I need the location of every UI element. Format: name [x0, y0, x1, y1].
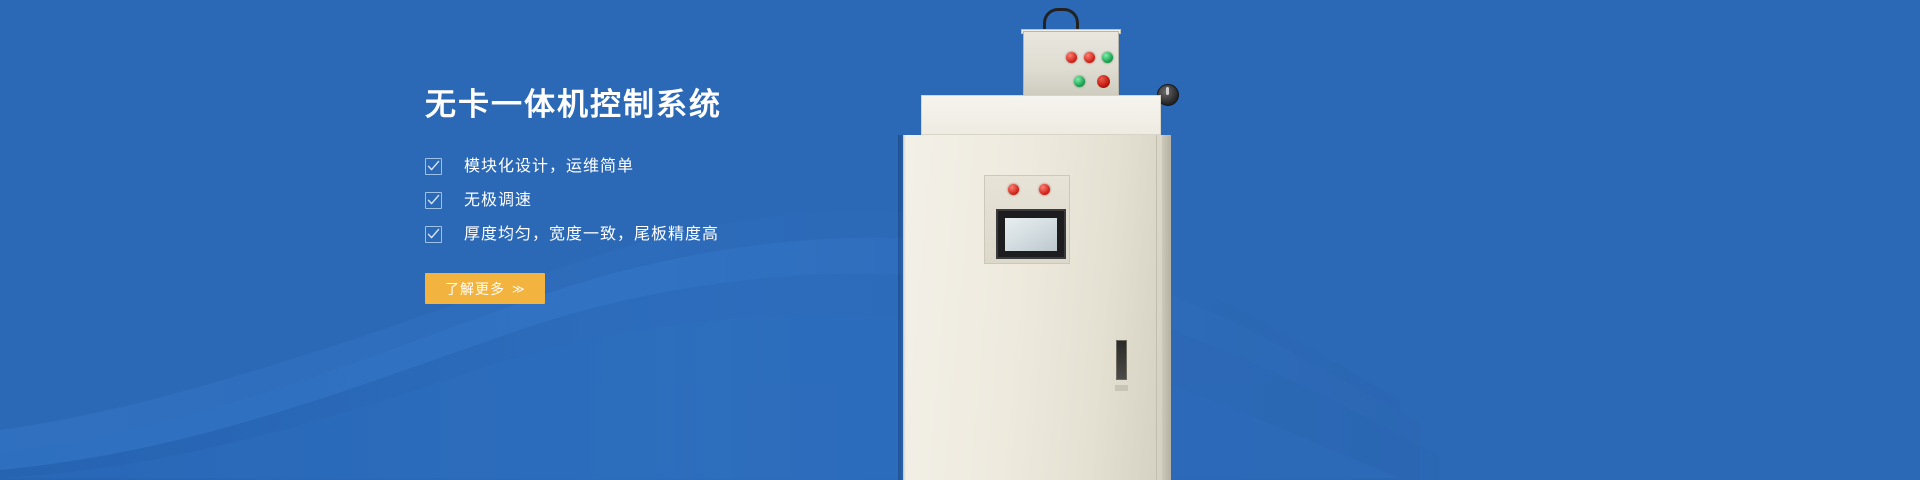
feature-list: 模块化设计，运维简单 无极调速 厚度均匀，宽度一致，尾板精度高 — [425, 150, 945, 251]
indicator-lamp-red-left — [1008, 184, 1019, 195]
indicator-lamp-red-right — [1039, 184, 1050, 195]
cabinet-top-plate — [921, 95, 1161, 135]
check-glyph — [427, 194, 440, 207]
learn-more-button[interactable]: 了解更多 ≫ — [425, 273, 545, 304]
hmi-screen-glass — [1005, 218, 1057, 251]
cabinet-vent-slot — [1116, 340, 1127, 380]
push-button-red-1 — [1066, 52, 1077, 63]
cabinet-door-seam — [1156, 135, 1157, 480]
check-glyph — [427, 160, 440, 173]
hero-copy-block: 无卡一体机控制系统 模块化设计，运维简单 无极调速 — [425, 86, 945, 304]
hero-banner: 无卡一体机控制系统 模块化设计，运维简单 无极调速 — [0, 0, 1920, 480]
push-button-green-1 — [1102, 52, 1113, 63]
learn-more-label: 了解更多 — [445, 279, 505, 299]
check-glyph — [427, 228, 440, 241]
feature-label: 模块化设计，运维简单 — [464, 158, 634, 175]
list-item: 无极调速 — [425, 184, 945, 217]
top-control-box — [1023, 31, 1119, 99]
feature-label: 厚度均匀，宽度一致，尾板精度高 — [464, 226, 719, 243]
list-item: 模块化设计，运维简单 — [425, 150, 945, 183]
chevron-right-icon: ≫ — [512, 282, 525, 296]
cabinet-side-edge — [1162, 135, 1171, 480]
push-button-red-3 — [1097, 75, 1110, 88]
cabinet-latch — [1115, 385, 1128, 391]
checkbox-checked-icon — [425, 158, 442, 175]
checkbox-checked-icon — [425, 192, 442, 209]
checkbox-checked-icon — [425, 226, 442, 243]
page-title: 无卡一体机控制系统 — [425, 86, 945, 124]
push-button-green-2 — [1074, 76, 1085, 87]
list-item: 厚度均匀，宽度一致，尾板精度高 — [425, 218, 945, 251]
feature-label: 无极调速 — [464, 192, 532, 209]
push-button-red-2 — [1084, 52, 1095, 63]
hmi-touchscreen — [996, 209, 1066, 259]
